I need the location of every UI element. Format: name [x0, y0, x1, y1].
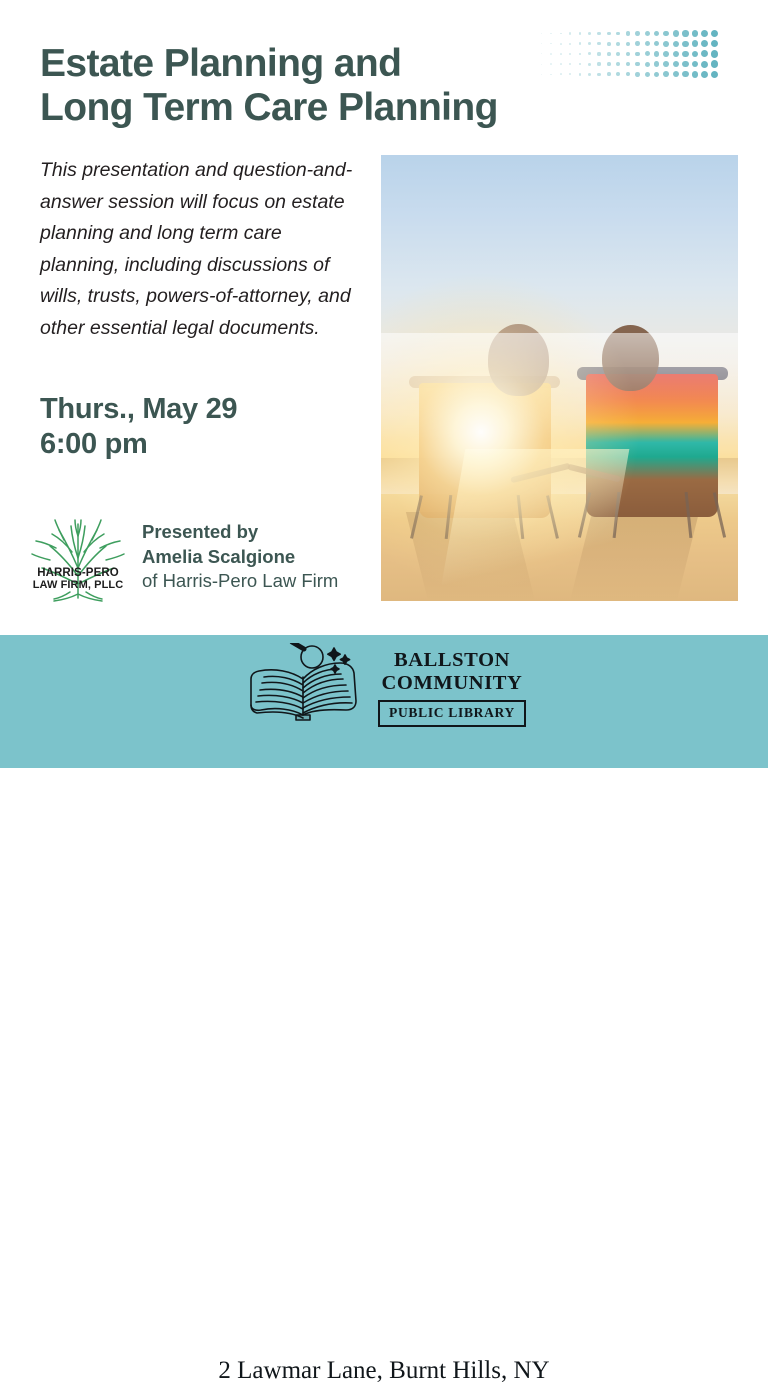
grid-dot — [550, 33, 552, 35]
grid-dot — [597, 73, 600, 76]
grid-dot — [616, 72, 620, 76]
footer-logo-row: BALLSTON COMMUNITY PUBLIC LIBRARY — [0, 643, 768, 727]
grid-dot — [626, 52, 630, 56]
grid-dot — [654, 51, 659, 56]
grid-dot — [663, 61, 669, 67]
grid-dot — [692, 71, 699, 78]
grid-dot — [607, 62, 611, 66]
open-book-magnifier-icon — [242, 643, 364, 723]
library-name-line-2: COMMUNITY — [378, 672, 526, 695]
grid-dot — [626, 31, 630, 35]
event-description: This presentation and question-and-answe… — [40, 155, 358, 344]
grid-dot — [711, 71, 718, 78]
grid-dot — [579, 32, 582, 35]
grid-dot — [579, 63, 582, 66]
library-name-line-1: BALLSTON — [378, 649, 526, 672]
grid-dot — [597, 42, 600, 45]
grid-dot — [673, 61, 679, 67]
grid-dot — [607, 72, 611, 76]
grid-dot — [588, 73, 591, 76]
presenter-affiliation: of Harris-Pero Law Firm — [142, 569, 338, 594]
presented-by-label: Presented by — [142, 520, 338, 545]
grid-dot — [635, 72, 640, 77]
photo-haze — [381, 333, 738, 601]
grid-dot — [635, 52, 640, 57]
grid-dot — [711, 50, 718, 57]
title-line-1: Estate Planning and — [40, 42, 560, 86]
grid-dot — [635, 31, 640, 36]
grid-dot — [569, 32, 571, 34]
grid-dot — [569, 63, 571, 65]
grid-dot — [663, 51, 669, 57]
grid-dot — [597, 62, 600, 65]
grid-dot — [560, 63, 562, 65]
grid-dot — [673, 71, 679, 77]
grid-dot — [607, 42, 611, 46]
grid-dot — [588, 32, 591, 35]
grid-dot — [607, 52, 611, 56]
grid-dot — [692, 51, 699, 58]
grid-dot — [588, 52, 591, 55]
grid-dot — [579, 73, 582, 76]
grid-dot — [560, 73, 562, 75]
grid-dot — [645, 41, 650, 46]
grid-dot — [626, 72, 630, 76]
event-time: 6:00 pm — [40, 427, 237, 462]
grid-dot — [654, 41, 659, 46]
grid-dot — [711, 40, 718, 47]
grid-dot — [654, 31, 659, 36]
grid-dot — [654, 61, 659, 66]
presenter-name: Amelia Scalgione — [142, 545, 338, 570]
presenter-block: HARRIS-PERO LAW FIRM, PLLC Presented by … — [26, 506, 338, 606]
grid-dot — [579, 53, 582, 56]
event-date: Thurs., May 29 — [40, 392, 237, 427]
library-name: BALLSTON COMMUNITY — [378, 649, 526, 695]
grid-dot — [673, 30, 679, 36]
grid-dot — [645, 72, 650, 77]
event-datetime: Thurs., May 29 6:00 pm — [40, 392, 237, 463]
grid-dot — [701, 30, 708, 37]
grid-dot — [701, 61, 708, 68]
grid-dot — [560, 53, 562, 55]
grid-dot — [701, 40, 708, 47]
grid-dot — [692, 30, 699, 37]
grid-dot — [560, 43, 562, 45]
grid-dot — [654, 72, 659, 77]
grid-dot — [569, 43, 571, 45]
grid-dot — [597, 32, 600, 35]
halftone-dot-grid — [538, 30, 722, 80]
grid-dot — [673, 41, 679, 47]
grid-dot — [597, 52, 600, 55]
grid-dot — [626, 42, 630, 46]
footer-band: BALLSTON COMMUNITY PUBLIC LIBRARY 2 Lawm… — [0, 635, 768, 768]
grid-dot — [701, 50, 708, 57]
grid-dot — [541, 33, 542, 34]
grid-dot — [616, 32, 620, 36]
grid-dot — [682, 41, 688, 47]
library-wordmark: BALLSTON COMMUNITY PUBLIC LIBRARY — [378, 643, 526, 727]
title-line-2: Long Term Care Planning — [40, 86, 560, 130]
page-title: Estate Planning and Long Term Care Plann… — [40, 42, 560, 129]
beach-sunset-photo — [381, 155, 738, 601]
harris-pero-logo: HARRIS-PERO LAW FIRM, PLLC — [26, 506, 130, 606]
logo-name-line-2: LAW FIRM, PLLC — [33, 579, 124, 591]
grid-dot — [673, 51, 679, 57]
grid-dot — [645, 51, 650, 56]
grid-dot — [569, 73, 571, 75]
grid-dot — [616, 42, 620, 46]
grid-dot — [635, 62, 640, 67]
grid-dot — [588, 42, 591, 45]
grid-dot — [663, 71, 669, 77]
grid-dot — [560, 33, 562, 35]
grid-dot — [663, 41, 669, 47]
grid-dot — [579, 42, 582, 45]
grid-dot — [682, 71, 688, 77]
grid-dot — [711, 30, 718, 37]
logo-name-line-1: HARRIS-PERO — [37, 567, 119, 579]
grid-dot — [626, 62, 630, 66]
grid-dot — [682, 30, 688, 36]
logo-wordmark: HARRIS-PERO LAW FIRM, PLLC — [33, 567, 124, 591]
grid-dot — [645, 62, 650, 67]
grid-dot — [701, 71, 708, 78]
grid-dot — [607, 32, 611, 36]
grid-dot — [616, 62, 620, 66]
grid-dot — [682, 51, 688, 57]
grid-dot — [645, 31, 650, 36]
grid-dot — [588, 63, 591, 66]
grid-dot — [616, 52, 620, 56]
presenter-text: Presented by Amelia Scalgione of Harris-… — [142, 518, 338, 594]
grid-dot — [711, 60, 718, 67]
grid-dot — [692, 40, 699, 47]
grid-dot — [635, 41, 640, 46]
public-library-badge: PUBLIC LIBRARY — [378, 700, 526, 727]
grid-dot — [663, 31, 669, 37]
library-address: 2 Lawmar Lane, Burnt Hills, NY — [0, 1357, 768, 1385]
grid-dot — [692, 61, 699, 68]
grid-dot — [569, 53, 571, 55]
grid-dot — [682, 61, 688, 67]
